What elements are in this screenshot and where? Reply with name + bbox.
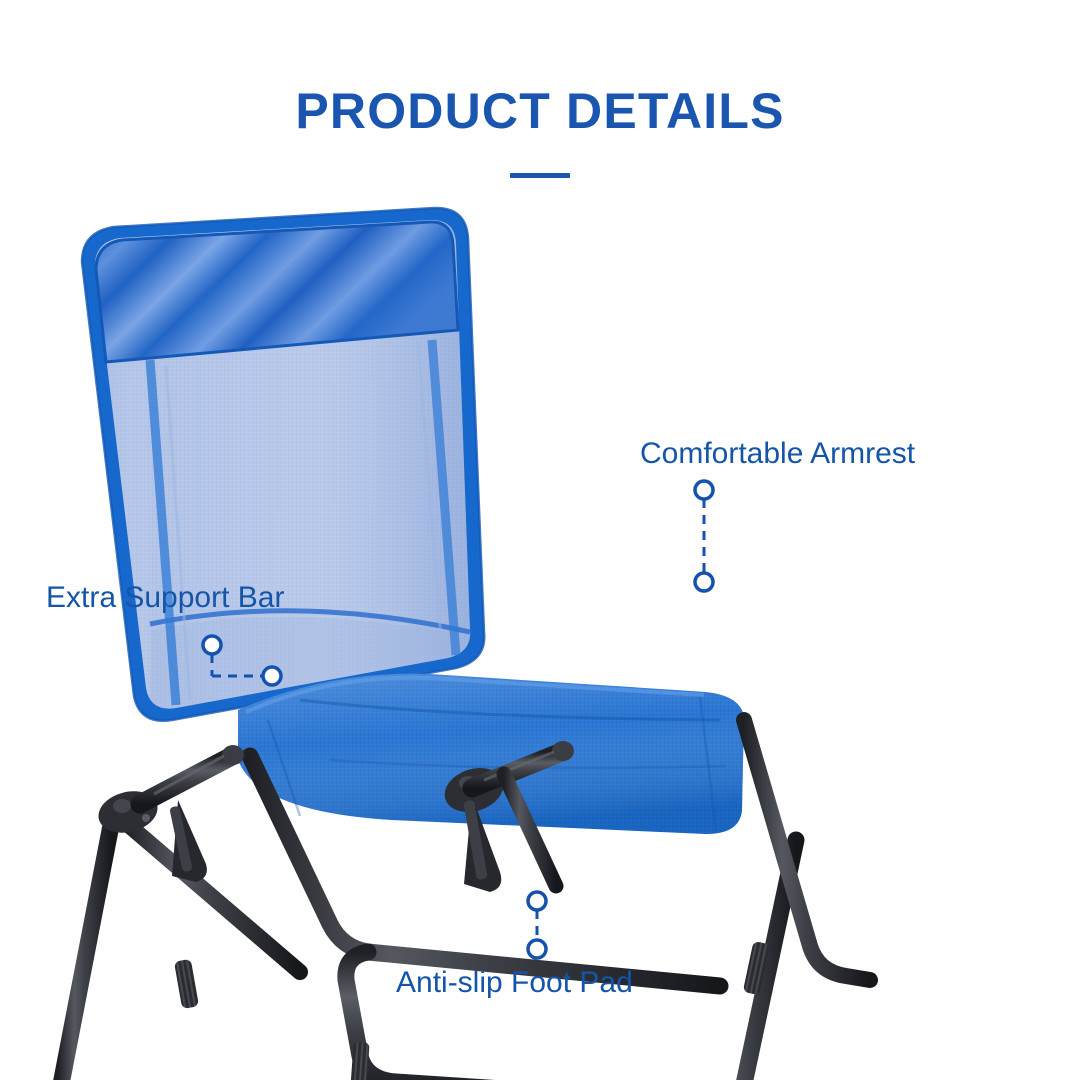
seat-fabric	[238, 674, 744, 834]
callout-label-anti-slip-foot-pad: Anti-slip Foot Pad	[396, 966, 633, 1001]
product-image	[0, 200, 1080, 1080]
header: PRODUCT DETAILS	[0, 86, 1080, 178]
page-title: PRODUCT DETAILS	[0, 86, 1080, 136]
callout-label-comfortable-armrest: Comfortable Armrest	[640, 437, 915, 472]
infographic-page: PRODUCT DETAILS	[0, 0, 1080, 1080]
title-divider	[510, 173, 570, 178]
callout-label-extra-support-bar: Extra Support Bar	[46, 581, 284, 616]
backrest-fabric	[80, 208, 500, 730]
